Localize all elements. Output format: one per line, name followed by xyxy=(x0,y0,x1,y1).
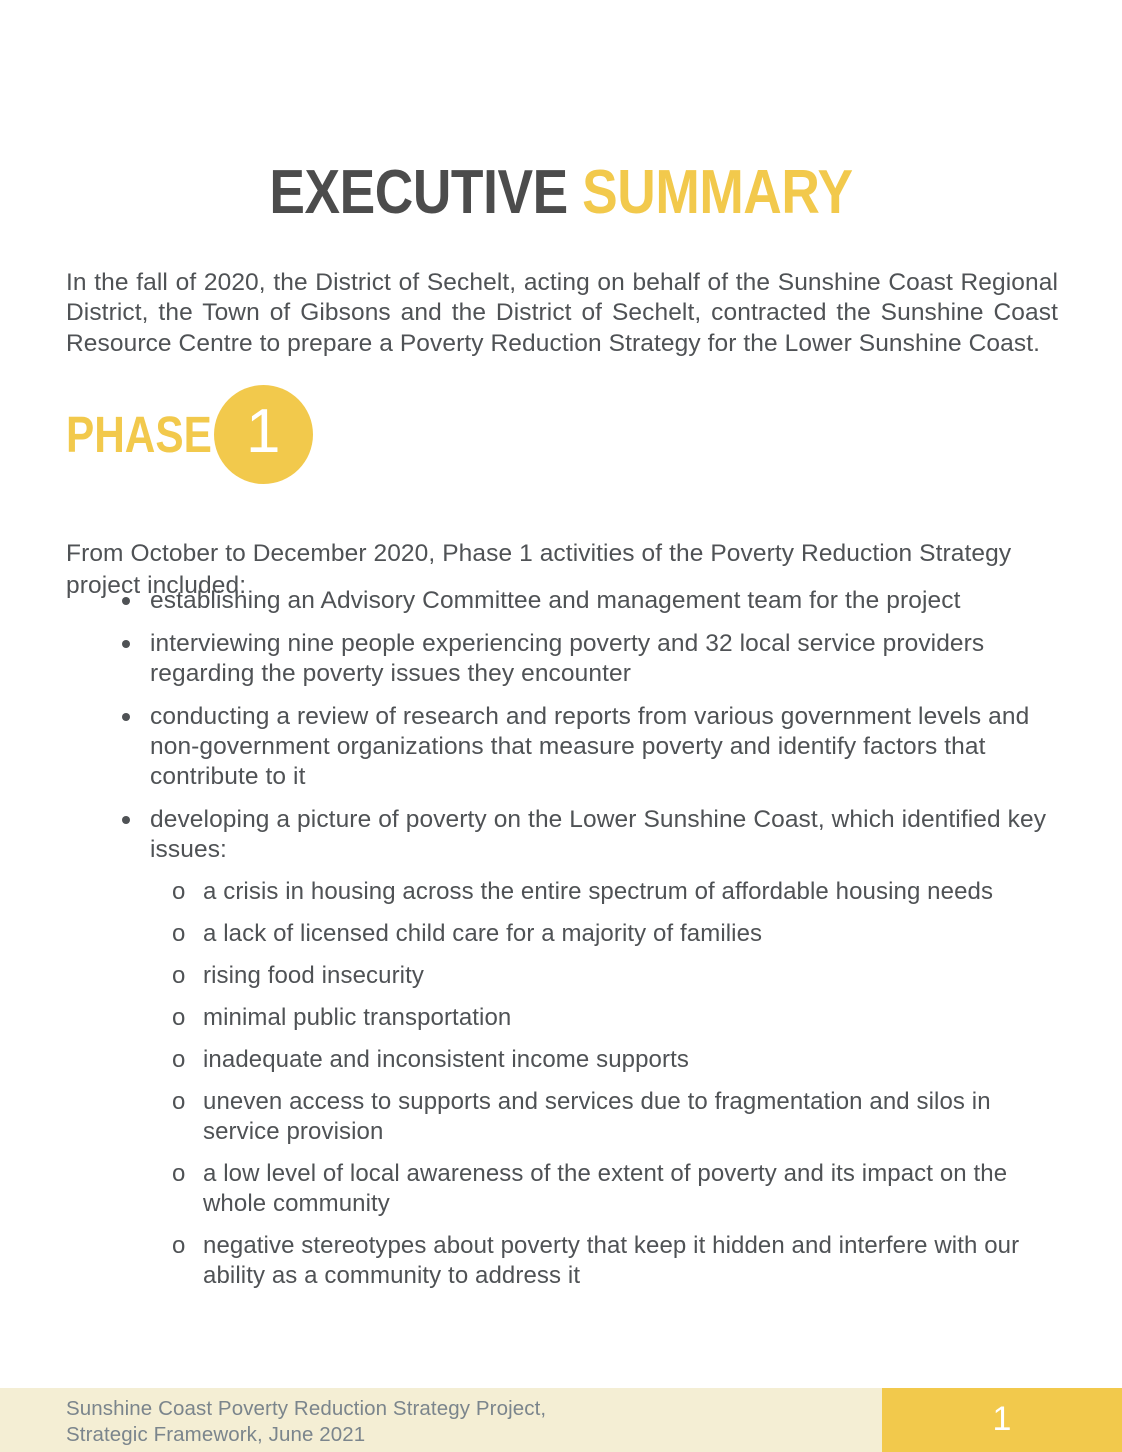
circle-marker-icon: o xyxy=(172,961,185,991)
sub-list-item: oinadequate and inconsistent income supp… xyxy=(150,1045,1066,1075)
sub-list-item-label: minimal public transportation xyxy=(203,1004,511,1031)
sub-list-item-label: rising food insecurity xyxy=(203,962,424,989)
list-item-label: developing a picture of poverty on the L… xyxy=(150,806,1046,863)
intro-paragraph: In the fall of 2020, the District of Sec… xyxy=(66,268,1058,360)
page-title-word-summary: SUMMARY xyxy=(582,158,852,227)
sub-list-item-label: uneven access to supports and services d… xyxy=(203,1088,991,1145)
list-item: developing a picture of poverty on the L… xyxy=(66,805,1066,1291)
list-item: conducting a review of research and repo… xyxy=(66,702,1066,792)
phase-number: 1 xyxy=(246,401,280,463)
page-number: 1 xyxy=(993,1402,1012,1436)
page-title: EXECUTIVE SUMMARY xyxy=(79,160,1044,225)
bullet-dot-icon xyxy=(122,640,130,648)
page-footer: Sunshine Coast Poverty Reduction Strateg… xyxy=(0,1388,1122,1452)
sub-list-item-label: negative stereotypes about poverty that … xyxy=(203,1232,1019,1289)
circle-marker-icon: o xyxy=(172,1003,185,1033)
list-item-label: establishing an Advisory Committee and m… xyxy=(150,587,960,614)
sub-list-item: ominimal public transportation xyxy=(150,1003,1066,1033)
list-item-label: conducting a review of research and repo… xyxy=(150,703,1029,790)
page-number-block: 1 xyxy=(882,1388,1122,1452)
bullet-dot-icon xyxy=(122,816,130,824)
footer-citation-line-1: Sunshine Coast Poverty Reduction Strateg… xyxy=(66,1396,546,1422)
circle-marker-icon: o xyxy=(172,1045,185,1075)
circle-marker-icon: o xyxy=(172,877,185,907)
list-item: establishing an Advisory Committee and m… xyxy=(66,586,1066,616)
phase-number-circle: 1 xyxy=(214,385,313,484)
phase-label: PHASE xyxy=(66,409,212,460)
sub-list-item-label: a crisis in housing across the entire sp… xyxy=(203,878,993,905)
sub-list-item-label: a lack of licensed child care for a majo… xyxy=(203,920,762,947)
sub-list-item: oa lack of licensed child care for a maj… xyxy=(150,919,1066,949)
sub-list-item-label: a low level of local awareness of the ex… xyxy=(203,1160,1007,1217)
circle-marker-icon: o xyxy=(172,919,185,949)
sub-list-item: ouneven access to supports and services … xyxy=(150,1087,1066,1147)
bullet-dot-icon xyxy=(122,713,130,721)
circle-marker-icon: o xyxy=(172,1087,185,1117)
footer-citation: Sunshine Coast Poverty Reduction Strateg… xyxy=(66,1396,546,1448)
footer-citation-line-2: Strategic Framework, June 2021 xyxy=(66,1422,546,1448)
list-item-label: interviewing nine people experiencing po… xyxy=(150,630,984,687)
page-title-word-executive: EXECUTIVE xyxy=(269,158,567,227)
sub-list-item: oa crisis in housing across the entire s… xyxy=(150,877,1066,907)
circle-marker-icon: o xyxy=(172,1231,185,1261)
sub-list-item-label: inadequate and inconsistent income suppo… xyxy=(203,1046,689,1073)
phase-heading: PHASE 1 xyxy=(66,384,313,484)
circle-marker-icon: o xyxy=(172,1159,185,1189)
sub-list-item: onegative stereotypes about poverty that… xyxy=(150,1231,1066,1291)
bullet-dot-icon xyxy=(122,597,130,605)
key-issues-list: oa crisis in housing across the entire s… xyxy=(150,877,1066,1291)
sub-list-item: oa low level of local awareness of the e… xyxy=(150,1159,1066,1219)
list-item: interviewing nine people experiencing po… xyxy=(66,629,1066,689)
phase-activities-list: establishing an Advisory Committee and m… xyxy=(66,586,1066,1304)
sub-list-item: orising food insecurity xyxy=(150,961,1066,991)
document-page: EXECUTIVE SUMMARY In the fall of 2020, t… xyxy=(0,0,1122,1452)
